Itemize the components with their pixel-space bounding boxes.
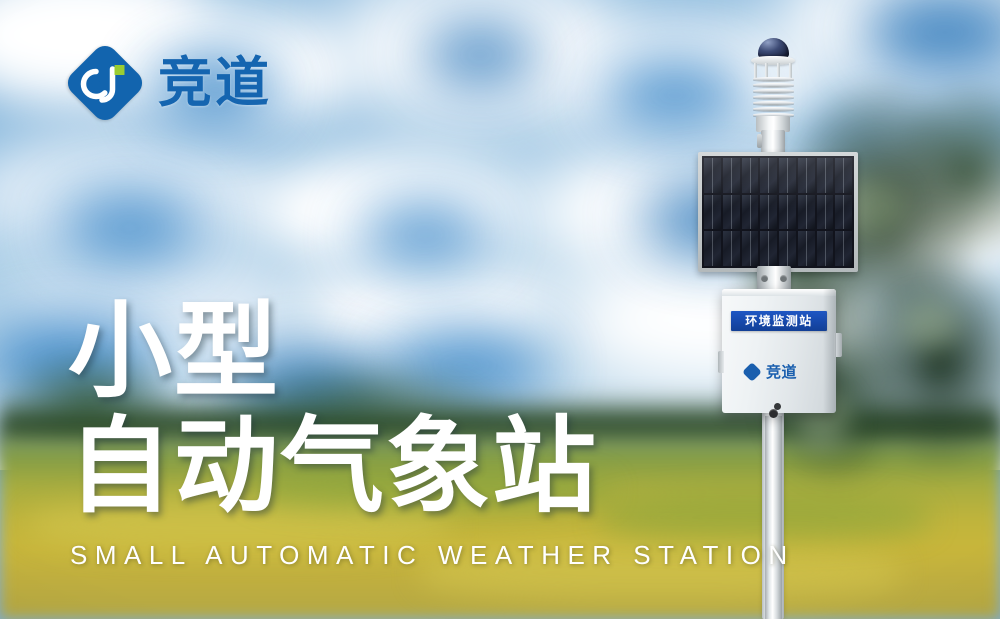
solar-cell bbox=[723, 231, 740, 266]
radiation-shield-icon bbox=[753, 77, 794, 118]
brand-name: 竞道 bbox=[158, 56, 272, 110]
sensor-cable-clip bbox=[757, 134, 762, 148]
enclosure-banner: 环境监测站 bbox=[731, 311, 827, 331]
solar-cell bbox=[835, 158, 852, 193]
brand-logo[interactable]: 竞道 bbox=[66, 44, 272, 122]
shield-louver bbox=[753, 89, 794, 93]
solar-cell-grid bbox=[702, 156, 854, 268]
enclosure-banner-text: 环境监测站 bbox=[745, 315, 813, 327]
solar-cell bbox=[835, 231, 852, 266]
mounting-pole-lower bbox=[765, 416, 782, 619]
solar-cell bbox=[798, 158, 815, 193]
shield-louver bbox=[753, 101, 794, 105]
enclosure-brand-name: 竞道 bbox=[766, 361, 797, 382]
subtitle: SMALL AUTOMATIC WEATHER STATION bbox=[70, 540, 795, 571]
jingdao-diamond-logo-icon bbox=[742, 362, 761, 381]
product-banner: 环境监测站 竞道 bbox=[0, 0, 1000, 619]
shield-louver bbox=[753, 83, 794, 87]
shield-louver bbox=[753, 95, 794, 99]
enclosure-hinge-left bbox=[718, 351, 724, 373]
pole-bolt bbox=[769, 409, 778, 418]
solar-cell bbox=[760, 158, 777, 193]
solar-cell bbox=[760, 195, 777, 230]
solar-cell bbox=[798, 231, 815, 266]
solar-cell bbox=[704, 231, 721, 266]
ultrasonic-weather-sensor-icon bbox=[744, 38, 802, 156]
shield-louver bbox=[753, 107, 794, 111]
solar-cell bbox=[779, 158, 796, 193]
solar-cell bbox=[742, 195, 759, 230]
solar-cell bbox=[835, 195, 852, 230]
solar-panel bbox=[698, 152, 858, 272]
jingdao-diamond-logo-icon bbox=[66, 44, 144, 122]
bracket-bolt bbox=[761, 275, 768, 282]
shield-louver bbox=[753, 77, 794, 81]
enclosure-top-edge bbox=[722, 289, 836, 296]
headline-line-2: 自动气象站 bbox=[68, 409, 598, 524]
solar-cell bbox=[817, 158, 834, 193]
solar-cell bbox=[779, 195, 796, 230]
enclosure-brand-logo: 竞道 bbox=[742, 361, 797, 382]
solar-cell bbox=[723, 158, 740, 193]
solar-cell bbox=[742, 158, 759, 193]
solar-cell bbox=[817, 231, 834, 266]
solar-cell bbox=[704, 158, 721, 193]
headline-line-1: 小型 bbox=[68, 294, 598, 409]
headline: 小型 自动气象站 bbox=[68, 294, 598, 524]
sensor-dome bbox=[758, 38, 789, 58]
solar-cell bbox=[817, 195, 834, 230]
bracket-bolt bbox=[780, 275, 787, 282]
environment-monitoring-enclosure: 环境监测站 竞道 bbox=[722, 289, 836, 413]
solar-cell bbox=[723, 195, 740, 230]
solar-cell bbox=[742, 231, 759, 266]
solar-cell bbox=[779, 231, 796, 266]
enclosure-side-shadow bbox=[823, 289, 836, 413]
solar-cell bbox=[760, 231, 777, 266]
solar-cell bbox=[704, 195, 721, 230]
solar-cell bbox=[798, 195, 815, 230]
